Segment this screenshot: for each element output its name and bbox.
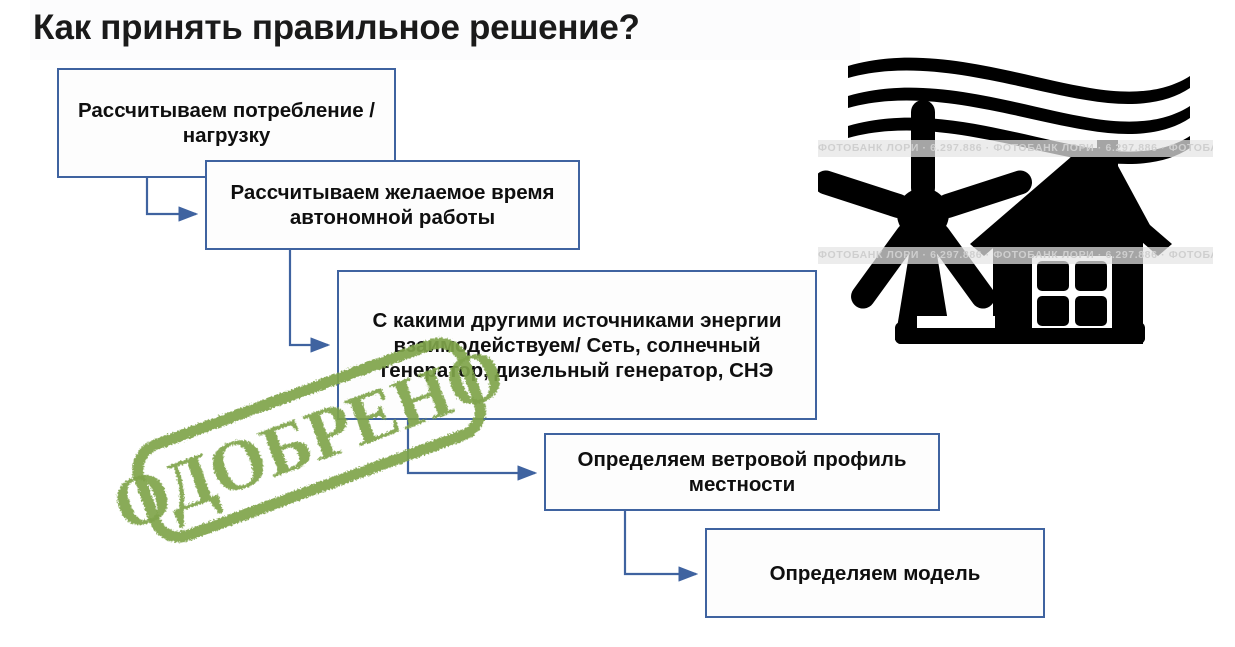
flow-step-4[interactable]: Определяем ветровой профиль местности xyxy=(544,433,940,511)
flow-step-1-label: Рассчитываем потребление / нагрузку xyxy=(69,98,384,148)
approved-stamp: ОДОБРЕНО xyxy=(112,330,512,580)
page-title: Как принять правильное решение? xyxy=(33,8,873,48)
watermark-line-2: ФОТОБАНК ЛОРИ · 6.297.886 · ФОТОБАНК ЛОР… xyxy=(818,247,1213,264)
slide-canvas: Как принять правильное решение? Рассчиты… xyxy=(0,0,1235,647)
wind-turbine-and-house-illustration: ФОТОБАНК ЛОРИ · 6.297.886 · ФОТОБАНК ЛОР… xyxy=(818,44,1213,364)
watermark-line-1: ФОТОБАНК ЛОРИ · 6.297.886 · ФОТОБАНК ЛОР… xyxy=(818,140,1213,157)
stamp-body: ОДОБРЕНО xyxy=(112,330,512,555)
ground-base-lower xyxy=(895,328,1145,344)
flow-step-2-label: Рассчитываем желаемое время автономной р… xyxy=(217,180,568,230)
house-window-icon xyxy=(1032,256,1112,330)
flow-step-5-label: Определяем модель xyxy=(770,561,981,586)
flow-step-4-label: Определяем ветровой профиль местности xyxy=(556,447,928,497)
turbine-hub-icon xyxy=(897,188,949,240)
flow-step-2[interactable]: Рассчитываем желаемое время автономной р… xyxy=(205,160,580,250)
flow-step-5[interactable]: Определяем модель xyxy=(705,528,1045,618)
